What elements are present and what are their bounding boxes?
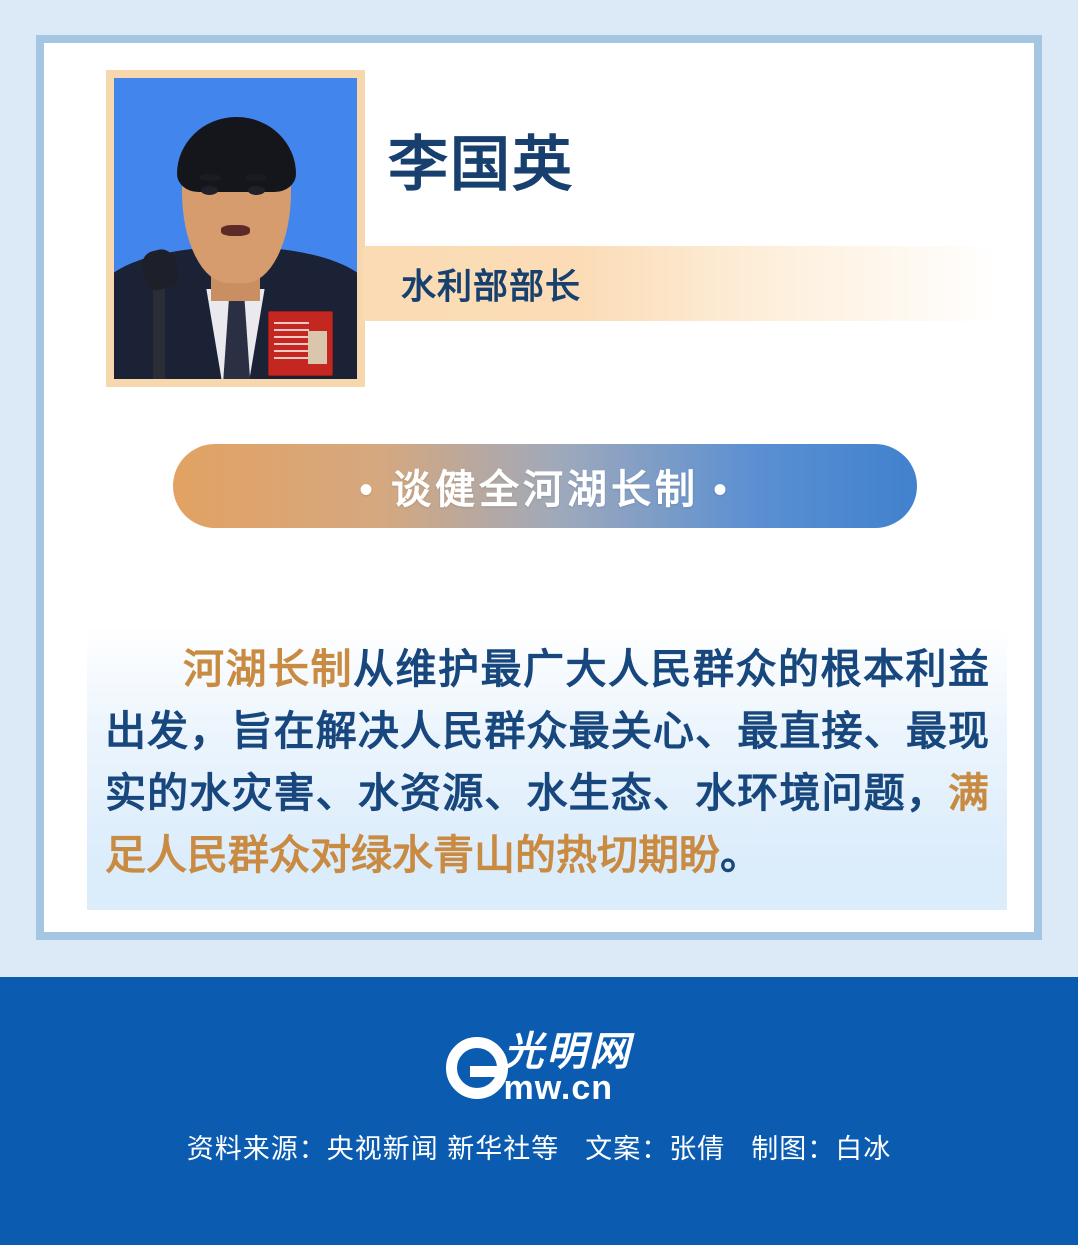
office-bar: 水利部部长 bbox=[363, 246, 1000, 321]
portrait-frame bbox=[106, 70, 365, 387]
person-office: 水利部部长 bbox=[401, 258, 581, 309]
delegate-badge bbox=[268, 311, 333, 376]
quote-segment-3: 。 bbox=[720, 832, 761, 878]
credit-designer-value: 白冰 bbox=[835, 1134, 891, 1164]
credit-source-label: 资料来源： bbox=[187, 1134, 327, 1164]
badge-text-lines bbox=[274, 322, 309, 364]
badge-photo bbox=[308, 331, 327, 364]
portrait-brow-left bbox=[199, 174, 221, 181]
credit-writer-label: 文案： bbox=[585, 1134, 669, 1164]
portrait-brow-right bbox=[245, 174, 267, 181]
quote-paragraph: 河湖长制从维护最广大人民群众的根本利益出发，旨在解决人民群众最关心、最直接、最现… bbox=[105, 638, 989, 886]
topic-pill: • 谈健全河湖长制 • bbox=[173, 444, 917, 528]
credits-line: 资料来源：央视新闻 新华社等文案：张倩制图：白冰 bbox=[0, 1127, 1078, 1166]
topic-pill-label: • 谈健全河湖长制 • bbox=[359, 457, 731, 515]
portrait-photo bbox=[114, 78, 357, 379]
portrait-mouth bbox=[221, 225, 250, 235]
person-name: 李国英 bbox=[388, 135, 574, 195]
portrait-hair bbox=[177, 117, 296, 192]
logo-brand-cn: 光明网 bbox=[504, 1031, 633, 1073]
credit-writer-value: 张倩 bbox=[669, 1134, 725, 1164]
quote-segment-0: 河湖长制 bbox=[183, 646, 353, 692]
footer-bar: 光明网 mw.cn 资料来源：央视新闻 新华社等文案：张倩制图：白冰 bbox=[0, 977, 1078, 1245]
credit-source-value: 央视新闻 新华社等 bbox=[327, 1134, 560, 1164]
credit-designer-label: 制图： bbox=[751, 1134, 835, 1164]
logo-url: mw.cn bbox=[504, 1071, 614, 1105]
guangming-logo-icon[interactable]: 光明网 mw.cn bbox=[0, 1025, 1078, 1111]
logo-g-mark bbox=[446, 1037, 508, 1099]
content-card: 李国英 水利部部长 • 谈健全河湖长制 • 河湖长制从维护最广大人民群众的根本利… bbox=[36, 35, 1042, 940]
logo-wordmark: 光明网 mw.cn bbox=[504, 1031, 633, 1105]
quote-block: 河湖长制从维护最广大人民群众的根本利益出发，旨在解决人民群众最关心、最直接、最现… bbox=[87, 545, 1007, 910]
poster-page: 李国英 水利部部长 • 谈健全河湖长制 • 河湖长制从维护最广大人民群众的根本利… bbox=[0, 0, 1078, 1245]
